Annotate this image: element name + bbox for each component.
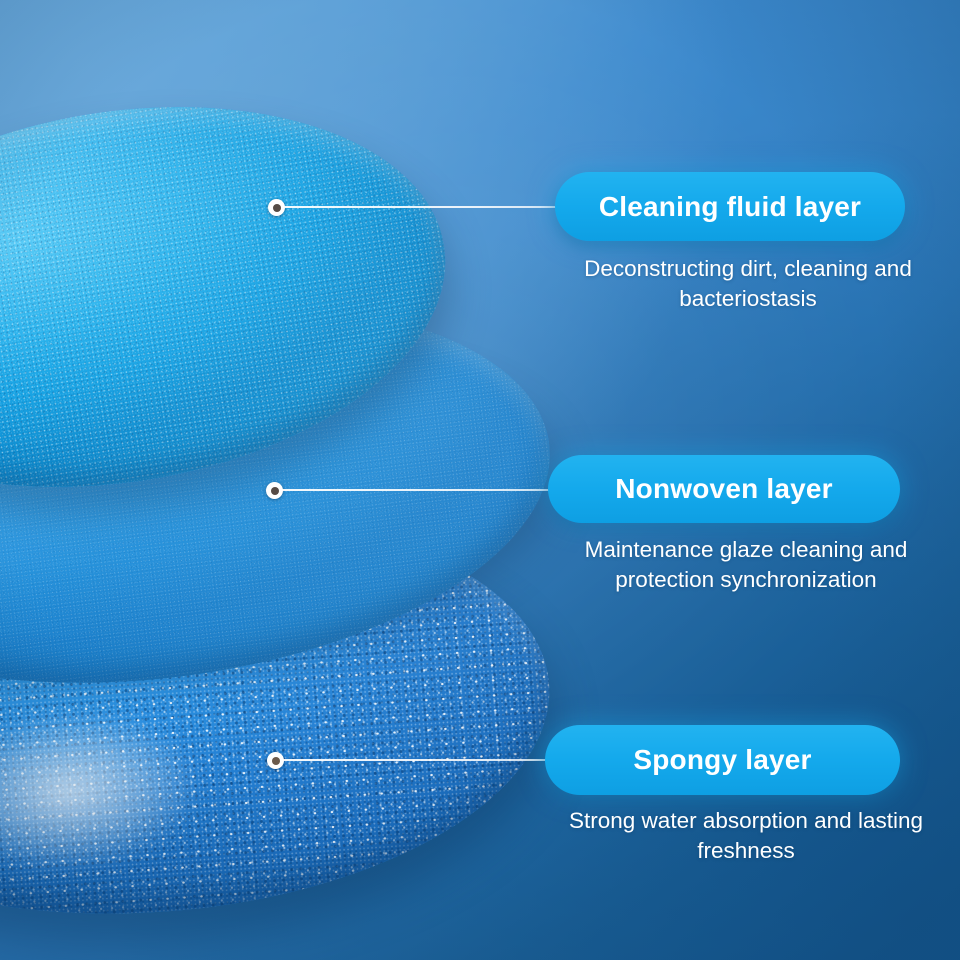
target-dot-icon bbox=[266, 482, 283, 499]
description-line-1: Strong water absorption and lasting bbox=[540, 806, 952, 836]
leader-line bbox=[282, 489, 554, 491]
target-dot-icon bbox=[267, 752, 284, 769]
layer-title-pill-spongy[interactable]: Spongy layer bbox=[545, 725, 900, 795]
leader-line bbox=[284, 206, 562, 208]
description-line-1: Maintenance glaze cleaning and bbox=[540, 535, 952, 565]
layer-description-nonwoven: Maintenance glaze cleaning and protectio… bbox=[540, 535, 952, 595]
layer-title-pill-nonwoven[interactable]: Nonwoven layer bbox=[548, 455, 900, 523]
layer-description-cleaning-fluid: Deconstructing dirt, cleaning and bacter… bbox=[548, 254, 948, 314]
description-line-2: protection synchronization bbox=[540, 565, 952, 595]
layer-title-text: Cleaning fluid layer bbox=[599, 191, 861, 223]
target-dot-icon bbox=[268, 199, 285, 216]
infographic-canvas: Cleaning fluid layer Deconstructing dirt… bbox=[0, 0, 960, 960]
layer-title-text: Spongy layer bbox=[633, 744, 811, 776]
sponge-layer-stack bbox=[0, 0, 620, 960]
description-line-1: Deconstructing dirt, cleaning and bbox=[548, 254, 948, 284]
leader-line bbox=[283, 759, 551, 761]
description-line-2: bacteriostasis bbox=[548, 284, 948, 314]
layer-title-text: Nonwoven layer bbox=[615, 473, 833, 505]
description-line-2: freshness bbox=[540, 836, 952, 866]
layer-title-pill-cleaning-fluid[interactable]: Cleaning fluid layer bbox=[555, 172, 905, 241]
layer-description-spongy: Strong water absorption and lasting fres… bbox=[540, 806, 952, 866]
